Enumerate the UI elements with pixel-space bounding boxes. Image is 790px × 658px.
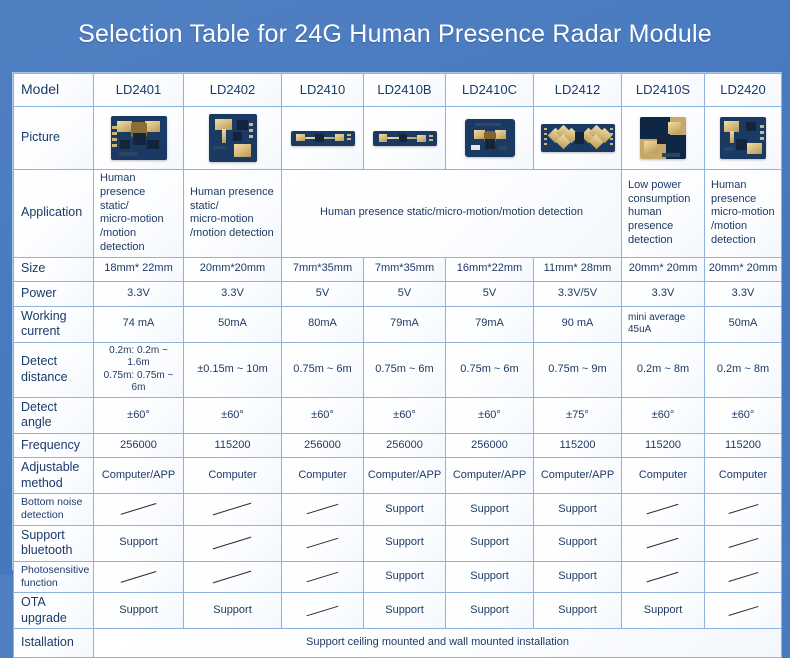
ota-ld2410s: Support <box>622 593 705 629</box>
adjustable-method-ld2410s: Computer <box>622 458 705 494</box>
picture-cell-ld2402 <box>184 107 282 170</box>
detect-distance-ld2410: 0.75m ~ 6m <box>282 342 364 397</box>
photosensitive-ld2402 <box>184 561 282 592</box>
table-row-adjustable-method: Adjustable method Computer/APP Computer … <box>14 458 782 494</box>
photosensitive-ld2410s <box>622 561 705 592</box>
detect-angle-ld2410s: ±60° <box>622 397 705 433</box>
size-ld2401: 18mm* 22mm <box>94 257 184 281</box>
detect-angle-ld2420: ±60° <box>705 397 782 433</box>
photosensitive-ld2412: Support <box>534 561 622 592</box>
row-label-working-current: Working current <box>14 306 94 342</box>
bottom-noise-ld2402 <box>184 494 282 525</box>
size-ld2410: 7mm*35mm <box>282 257 364 281</box>
row-label-installation: Istallation <box>14 629 94 658</box>
bottom-noise-ld2410b: Support <box>364 494 446 525</box>
not-supported-slash-icon <box>285 603 360 619</box>
ld2412-module-photo <box>541 124 615 152</box>
frequency-ld2401: 256000 <box>94 434 184 458</box>
power-ld2402: 3.3V <box>184 281 282 306</box>
picture-cell-ld2401 <box>94 107 184 170</box>
table-row-detect-angle: Detect angle ±60° ±60° ±60° ±60° ±60° ±7… <box>14 397 782 433</box>
ld2410c-module-photo <box>465 119 515 157</box>
application-ld2402: Human presence static/ micro-motion /mot… <box>184 170 282 258</box>
table-row-installation: Istallation Support ceiling mounted and … <box>14 629 782 658</box>
not-supported-slash-icon <box>285 501 360 517</box>
detect-distance-ld2412: 0.75m ~ 9m <box>534 342 622 397</box>
size-ld2410c: 16mm*22mm <box>446 257 534 281</box>
table-row-picture: Picture <box>14 107 782 170</box>
bottom-noise-ld2412: Support <box>534 494 622 525</box>
photosensitive-ld2410c: Support <box>446 561 534 592</box>
model-ld2401: LD2401 <box>94 74 184 107</box>
bluetooth-ld2402 <box>184 525 282 561</box>
adjustable-method-ld2410c: Computer/APP <box>446 458 534 494</box>
not-supported-slash-icon <box>708 501 778 517</box>
bluetooth-ld2410s <box>622 525 705 561</box>
detect-distance-ld2401: 0.2m: 0.2m ~ 1.6m 0.75m: 0.75m ~ 6m <box>94 342 184 397</box>
not-supported-slash-icon <box>187 501 278 517</box>
adjustable-method-ld2410: Computer <box>282 458 364 494</box>
bottom-noise-ld2401 <box>94 494 184 525</box>
not-supported-slash-icon <box>708 569 778 585</box>
frequency-ld2410c: 256000 <box>446 434 534 458</box>
not-supported-slash-icon <box>285 569 360 585</box>
row-label-ota-upgrade: OTA upgrade <box>14 593 94 629</box>
application-merged-2410-2412: Human presence static/micro-motion/motio… <box>282 170 622 258</box>
row-label-size: Size <box>14 257 94 281</box>
photosensitive-ld2420 <box>705 561 782 592</box>
picture-cell-ld2410b <box>364 107 446 170</box>
installation-merged-cell: Support ceiling mounted and wall mounted… <box>94 629 782 658</box>
ota-ld2410c: Support <box>446 593 534 629</box>
table-row-detect-distance: Detect distance 0.2m: 0.2m ~ 1.6m 0.75m:… <box>14 342 782 397</box>
not-supported-slash-icon <box>625 501 701 517</box>
working-current-ld2410s: mini average 45uA <box>622 306 705 342</box>
row-label-detect-distance: Detect distance <box>14 342 94 397</box>
row-label-power: Power <box>14 281 94 306</box>
not-supported-slash-icon <box>187 569 278 585</box>
working-current-ld2410c: 79mA <box>446 306 534 342</box>
working-current-ld2412: 90 mA <box>534 306 622 342</box>
bottom-noise-ld2410 <box>282 494 364 525</box>
detect-angle-ld2401: ±60° <box>94 397 184 433</box>
photosensitive-ld2401 <box>94 561 184 592</box>
power-ld2410s: 3.3V <box>622 281 705 306</box>
detect-angle-ld2410b: ±60° <box>364 397 446 433</box>
ld2401-module-photo <box>111 116 167 160</box>
ld2410s-module-photo <box>640 117 686 159</box>
not-supported-slash-icon <box>97 501 180 517</box>
table-row-photosensitive-function: Photosensitive function Support Support … <box>14 561 782 592</box>
model-ld2410s: LD2410S <box>622 74 705 107</box>
detect-angle-ld2410: ±60° <box>282 397 364 433</box>
model-ld2420: LD2420 <box>705 74 782 107</box>
row-label-frequency: Frequency <box>14 434 94 458</box>
frequency-ld2420: 115200 <box>705 434 782 458</box>
not-supported-slash-icon <box>625 535 701 551</box>
frequency-ld2412: 115200 <box>534 434 622 458</box>
detect-distance-ld2420: 0.2m ~ 8m <box>705 342 782 397</box>
bluetooth-ld2410c: Support <box>446 525 534 561</box>
bluetooth-ld2410 <box>282 525 364 561</box>
detect-distance-ld2410s: 0.2m ~ 8m <box>622 342 705 397</box>
frequency-ld2402: 115200 <box>184 434 282 458</box>
adjustable-method-ld2410b: Computer/APP <box>364 458 446 494</box>
bluetooth-ld2410b: Support <box>364 525 446 561</box>
bluetooth-ld2420 <box>705 525 782 561</box>
table-row-model: Model LD2401 LD2402 LD2410 LD2410B LD241… <box>14 74 782 107</box>
row-label-detect-angle: Detect angle <box>14 397 94 433</box>
picture-cell-ld2420 <box>705 107 782 170</box>
frequency-ld2410s: 115200 <box>622 434 705 458</box>
table-row-working-current: Working current 74 mA 50mA 80mA 79mA 79m… <box>14 306 782 342</box>
frequency-ld2410: 256000 <box>282 434 364 458</box>
detect-angle-ld2410c: ±60° <box>446 397 534 433</box>
adjustable-method-ld2402: Computer <box>184 458 282 494</box>
table-row-frequency: Frequency 256000 115200 256000 256000 25… <box>14 434 782 458</box>
application-ld2420: Human presence micro-motion /motion dete… <box>705 170 782 258</box>
size-ld2410b: 7mm*35mm <box>364 257 446 281</box>
detect-angle-ld2402: ±60° <box>184 397 282 433</box>
size-ld2412: 11mm* 28mm <box>534 257 622 281</box>
size-ld2410s: 20mm* 20mm <box>622 257 705 281</box>
row-label-application: Application <box>14 170 94 258</box>
ld2410b-module-photo <box>373 131 437 146</box>
picture-cell-ld2410c <box>446 107 534 170</box>
detect-angle-ld2412: ±75° <box>534 397 622 433</box>
table-row-power: Power 3.3V 3.3V 5V 5V 5V 3.3V/5V 3.3V 3.… <box>14 281 782 306</box>
row-label-picture: Picture <box>14 107 94 170</box>
ota-ld2412: Support <box>534 593 622 629</box>
table-row-size: Size 18mm* 22mm 20mm*20mm 7mm*35mm 7mm*3… <box>14 257 782 281</box>
application-ld2401: Human presence static/ micro-motion /mot… <box>94 170 184 258</box>
not-supported-slash-icon <box>97 569 180 585</box>
picture-cell-ld2410s <box>622 107 705 170</box>
detect-distance-ld2402: ±0.15m ~ 10m <box>184 342 282 397</box>
power-ld2420: 3.3V <box>705 281 782 306</box>
ota-ld2420 <box>705 593 782 629</box>
table-row-ota-upgrade: OTA upgrade Support Support Support Supp… <box>14 593 782 629</box>
adjustable-method-ld2420: Computer <box>705 458 782 494</box>
power-ld2410: 5V <box>282 281 364 306</box>
page-title: Selection Table for 24G Human Presence R… <box>0 20 790 49</box>
working-current-ld2401: 74 mA <box>94 306 184 342</box>
row-label-model: Model <box>14 74 94 107</box>
adjustable-method-ld2412: Computer/APP <box>534 458 622 494</box>
detect-distance-ld2410b: 0.75m ~ 6m <box>364 342 446 397</box>
bluetooth-ld2401: Support <box>94 525 184 561</box>
picture-cell-ld2412 <box>534 107 622 170</box>
picture-cell-ld2410 <box>282 107 364 170</box>
working-current-ld2402: 50mA <box>184 306 282 342</box>
size-ld2402: 20mm*20mm <box>184 257 282 281</box>
bottom-noise-ld2410c: Support <box>446 494 534 525</box>
working-current-ld2410: 80mA <box>282 306 364 342</box>
bottom-noise-ld2410s <box>622 494 705 525</box>
ota-ld2410 <box>282 593 364 629</box>
application-ld2410s: Low power consumption human presence det… <box>622 170 705 258</box>
not-supported-slash-icon <box>285 535 360 551</box>
ota-ld2402: Support <box>184 593 282 629</box>
table-row-support-bluetooth: Support bluetooth Support Support Suppor… <box>14 525 782 561</box>
photosensitive-ld2410b: Support <box>364 561 446 592</box>
table-row-application: Application Human presence static/ micro… <box>14 170 782 258</box>
bottom-noise-ld2420 <box>705 494 782 525</box>
photosensitive-ld2410 <box>282 561 364 592</box>
selection-table: Model LD2401 LD2402 LD2410 LD2410B LD241… <box>13 73 782 658</box>
ota-ld2401: Support <box>94 593 184 629</box>
detect-distance-ld2410c: 0.75m ~ 6m <box>446 342 534 397</box>
power-ld2410c: 5V <box>446 281 534 306</box>
not-supported-slash-icon <box>708 535 778 551</box>
not-supported-slash-icon <box>187 535 278 551</box>
row-label-adjustable-method: Adjustable method <box>14 458 94 494</box>
ota-ld2410b: Support <box>364 593 446 629</box>
ld2402-module-photo <box>209 114 257 162</box>
row-label-photosensitive-function: Photosensitive function <box>14 561 94 592</box>
power-ld2401: 3.3V <box>94 281 184 306</box>
selection-table-container: Model LD2401 LD2402 LD2410 LD2410B LD241… <box>12 72 782 570</box>
model-ld2410: LD2410 <box>282 74 364 107</box>
model-ld2410b: LD2410B <box>364 74 446 107</box>
power-ld2410b: 5V <box>364 281 446 306</box>
ld2420-module-photo <box>720 117 766 159</box>
bluetooth-ld2412: Support <box>534 525 622 561</box>
not-supported-slash-icon <box>625 569 701 585</box>
working-current-ld2410b: 79mA <box>364 306 446 342</box>
power-ld2412: 3.3V/5V <box>534 281 622 306</box>
ld2410-module-photo <box>291 131 355 146</box>
not-supported-slash-icon <box>708 603 778 619</box>
size-ld2420: 20mm* 20mm <box>705 257 782 281</box>
working-current-ld2420: 50mA <box>705 306 782 342</box>
table-row-bottom-noise-detection: Bottom noise detection Support Support S… <box>14 494 782 525</box>
model-ld2402: LD2402 <box>184 74 282 107</box>
row-label-bottom-noise-detection: Bottom noise detection <box>14 494 94 525</box>
model-ld2410c: LD2410C <box>446 74 534 107</box>
adjustable-method-ld2401: Computer/APP <box>94 458 184 494</box>
model-ld2412: LD2412 <box>534 74 622 107</box>
row-label-support-bluetooth: Support bluetooth <box>14 525 94 561</box>
frequency-ld2410b: 256000 <box>364 434 446 458</box>
